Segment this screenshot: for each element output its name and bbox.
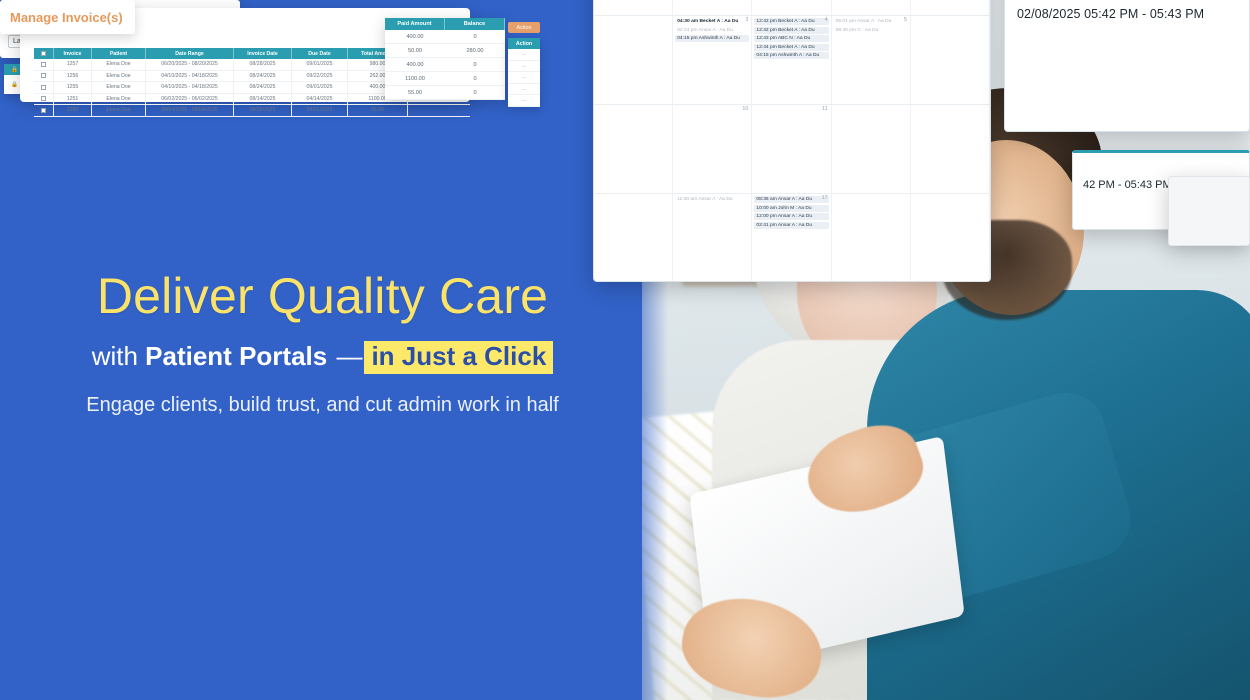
action-column-body[interactable]: ............... [508,49,540,107]
cell-patient[interactable]: Elena Doe [92,105,146,116]
cell-patient[interactable]: Elena Doe [92,82,146,93]
action-column[interactable]: Action ............... [508,38,540,107]
cell-action[interactable]: ... [508,95,540,107]
cell-paid-amount: 1100.00 [385,72,445,85]
checkbox-icon [41,85,46,90]
cell-action[interactable]: ... [508,49,540,61]
cell-date-range: 06/02/2025 - 06/02/2025 [146,94,234,105]
cell-total-amount: 55.00 [348,105,408,116]
calendar-week-row: 304:30 am Becket A : Aa Du02:24 pm Ansar… [594,16,990,105]
calendar-day-cell[interactable] [911,105,990,193]
checkbox-icon [41,51,46,56]
background-panel [1168,176,1250,246]
cell-balance: 0 [445,58,505,71]
cell-balance: 0 [445,30,505,43]
checkbox-icon [41,96,46,101]
cell-patient[interactable]: Elena Doe [92,71,146,82]
paid-balance-row: 55.000 [385,86,505,100]
calendar-day-number: 4 [825,17,828,23]
cell-balance: 280.00 [445,44,505,57]
calendar-body[interactable]: 12:40 am Ashwinth A : Aa Du05:00 am Beck… [594,0,990,282]
cell-invoice[interactable]: 1250 [54,105,92,116]
row-checkbox[interactable] [34,59,54,70]
calendar-day-cell[interactable] [594,105,673,193]
cell-date-range: 08/04/2025 - 08/04/2025 [146,105,234,116]
cell-date-range: 04/10/2025 - 04/18/2025 [146,82,234,93]
hero-subline: with Patient Portals —in Just a Click [0,341,645,374]
calendar-day-cell[interactable] [832,194,911,282]
cell-balance: 0 [445,86,505,99]
manage-invoices-title-box: Manage Invoice(s) [0,0,135,34]
calendar-appointment[interactable]: 04:15 pm Ashwinth A : Aa Du [754,52,828,59]
cell-invoice-date: 08/24/2025 [234,71,292,82]
paid-balance-panel[interactable]: Paid Amount Balance 400.00050.00280.0040… [385,18,505,100]
calendar-day-cell[interactable]: 12:40 am Ashwinth A : Aa Du05:00 am Beck… [673,0,752,15]
appointment-detail-card[interactable]: 02/08/2025 elena@gmail.com Becket, Anne [1004,0,1250,132]
cell-paid-amount: 55.00 [385,86,445,99]
calendar-day-number: 11 [822,106,828,112]
paid-balance-header: Paid Amount Balance [385,18,505,30]
calendar-week-row: 1011 [594,105,990,194]
paid-balance-row: 1100.000 [385,72,505,86]
column-balance[interactable]: Balance [445,18,505,30]
calendar-day-number: 5 [904,17,907,23]
cell-due-date: 09/01/2025 [292,59,348,70]
cell-patient[interactable]: Elena Doe [92,59,146,70]
table-row[interactable]: 1250Elena Doe08/04/2025 - 08/04/202508/2… [34,105,470,117]
calendar-day-cell[interactable] [594,16,673,104]
cell-patient[interactable]: Elena Doe [92,94,146,105]
column-date-range[interactable]: Date Range [146,48,234,59]
cell-paid-amount: 50.00 [385,44,445,57]
cell-invoice-date: 08/28/2025 [234,59,292,70]
calendar-appointment[interactable]: 12:44 pm Becket A : Aa Du [754,44,828,51]
calendar-card[interactable]: Sun Mon Tue Wed Thu 12:40 am Ashwinth A … [593,0,991,282]
cell-date-range: 04/10/2025 - 04/18/2025 [146,71,234,82]
action-button[interactable]: Action [508,22,540,33]
column-invoice[interactable]: Invoice [54,48,92,59]
calendar-day-cell[interactable]: 10:00 am Ashwinth A : Aa Du10:00 am Ashw… [832,0,911,15]
calendar-day-cell[interactable]: 505:01 pm Ansar A : Aa Du06:40 pm C : Aa… [832,16,911,104]
row-checkbox[interactable] [34,105,54,116]
cell-invoice[interactable]: 1256 [54,71,92,82]
calendar-day-number: 3 [745,17,748,23]
calendar-appointment[interactable]: 04:15 pm Ashwinth A : Aa Du [675,35,749,42]
row-checkbox[interactable] [34,71,54,82]
calendar-day-cell[interactable]: 1708:36 am Ansar A : Aa Du10:00 am John … [752,194,831,282]
calendar-day-cell[interactable] [911,16,990,104]
banner-stage: Deliver Quality Care with Patient Portal… [0,0,1250,700]
subline-highlight: in Just a Click [364,341,553,374]
detail2-time-range: 42 PM - 05:43 PM [1083,179,1172,191]
manage-invoices-panel[interactable]: Invoice Patient Date Range Invoice Date … [0,105,470,207]
select-all-checkbox[interactable] [34,48,54,59]
subline-dash: — [336,341,362,371]
checkbox-icon [41,73,46,78]
calendar-appointment[interactable]: 12:43 pm ABC N : Aa Du [754,35,828,42]
calendar-appointment[interactable]: 08:36 am Ansar A : Aa Du [754,196,828,203]
paid-balance-row: 400.000 [385,30,505,44]
row-checkbox[interactable] [34,94,54,105]
detail-time-range: 02/08/2025 05:42 PM - 05:43 PM [1017,7,1237,21]
calendar-day-cell[interactable]: 412:42 pm Becket A : Aa Du12:42 pm Becke… [752,16,831,104]
cell-due-date: 09/01/2025 [292,105,348,116]
column-action: Action [508,38,540,49]
calendar-appointment[interactable]: 05:01 pm Ansar A : Aa Du [834,18,908,25]
calendar-day-cell[interactable]: 09:00 am Ashwinth A : Aa Du09:00 am Ashw… [752,0,831,15]
calendar-day-cell[interactable]: 10:00 am C : Aa Du10:00 am Ashwinth A : … [911,0,990,15]
cell-invoice[interactable]: 1255 [54,82,92,93]
calendar-day-cell[interactable] [911,194,990,282]
paid-balance-body: 400.00050.00280.00400.0001100.00055.000 [385,30,505,100]
cell-invoice-date: 08/14/2025 [234,94,292,105]
cell-action[interactable]: ... [508,72,540,84]
cell-due-date: 04/14/2025 [292,94,348,105]
row-checkbox[interactable] [34,82,54,93]
paid-balance-row: 50.00280.00 [385,44,505,58]
subline-bold: Patient Portals [145,341,327,371]
column-paid-amount[interactable]: Paid Amount [385,18,445,30]
cell-invoice-date: 08/28/2025 [234,105,292,116]
calendar-day-cell[interactable]: 304:30 am Becket A : Aa Du02:24 pm Ansar… [673,16,752,104]
calendar-day-cell[interactable]: 10 [673,105,752,193]
column-due-date[interactable]: Due Date [292,48,348,59]
calendar-appointment[interactable]: 12:00 pm Ansar A : Aa Du [754,213,828,220]
calendar-appointment[interactable]: 06:40 pm C : Aa Du [834,27,908,34]
calendar-appointment[interactable]: 11:00 am Ansar A : Aa Du [675,196,749,203]
column-patient[interactable]: Patient [92,48,146,59]
calendar-appointment[interactable]: 02:41 pm Ansar A : Aa Du [754,222,828,229]
cell-due-date: 09/01/2025 [292,82,348,93]
subline-prefix: with [92,341,145,371]
calendar-day-cell[interactable]: 11:00 am Ansar A : Aa Du [673,194,752,282]
column-invoice-date[interactable]: Invoice Date [234,48,292,59]
page-title: Deliver Quality Care [0,270,645,323]
cell-invoice[interactable]: 1251 [54,94,92,105]
cell-paid-amount: 400.00 [385,58,445,71]
cell-invoice-date: 08/24/2025 [234,82,292,93]
calendar-day-number: 17 [822,195,828,201]
calendar-day-cell[interactable] [594,0,673,15]
calendar-week-row: 12:40 am Ashwinth A : Aa Du05:00 am Beck… [594,0,990,16]
calendar-appointment[interactable]: 12:42 pm Becket A : Aa Du [754,27,828,34]
calendar-appointment[interactable]: 10:00 am John M : Aa Du [754,205,828,212]
cell-paid-amount: 400.00 [385,30,445,43]
checkbox-icon [41,108,46,113]
manage-invoices-title: Manage Invoice(s) [10,10,123,25]
calendar-week-row: 11:00 am Ansar A : Aa Du1708:36 am Ansar… [594,194,990,282]
paid-balance-row: 400.000 [385,58,505,72]
calendar-appointment[interactable]: 04:30 am Becket A : Aa Du [675,18,749,25]
hero-tagline: Engage clients, build trust, and cut adm… [0,394,645,417]
calendar-appointment[interactable]: 12:42 pm Becket A : Aa Du [754,18,828,25]
calendar-appointment[interactable]: 02:24 pm Ansar A : Aa Du [675,27,749,34]
cell-balance: 0 [445,72,505,85]
calendar-day-cell[interactable]: 11 [752,105,831,193]
calendar-day-number: 10 [742,106,748,112]
cell-invoice[interactable]: 1257 [54,59,92,70]
cell-action[interactable]: ... [508,61,540,73]
calendar-day-cell[interactable] [832,105,911,193]
cell-date-range: 06/20/2025 - 08/20/2025 [146,59,234,70]
cell-action[interactable]: ... [508,84,540,96]
calendar-day-cell[interactable] [594,194,673,282]
checkbox-icon [41,62,46,67]
hero-copy: Deliver Quality Care with Patient Portal… [0,270,645,417]
cell-due-date: 09/22/2025 [292,71,348,82]
